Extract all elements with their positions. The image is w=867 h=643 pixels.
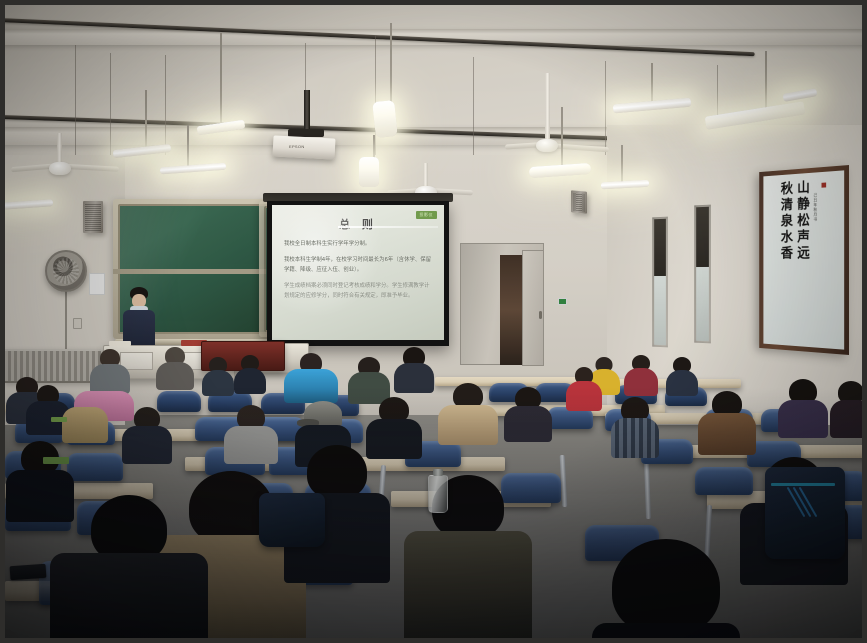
projection-screen-surface: 投影仪 总 则 我校全日制本科生实行学年学分制。 我校本科生学制4年，在校学习时… [272,205,444,340]
student-body [156,362,194,390]
wall-fan [45,250,87,292]
student-near-center-head [591,539,741,638]
student-head [307,445,367,499]
student-body [202,370,234,396]
student-head [612,539,720,635]
student-tan-puffer [438,405,498,445]
slide-paragraph-2: 我校本科生学制4年，在校学习时间最长为6年（含休学、保留学籍、降级、应征入伍、创… [284,256,432,275]
student-back-1 [155,347,195,387]
tube-light-3 [372,100,398,138]
student-body [122,426,172,464]
narrow-window-1 [652,217,668,348]
student-mid-10 [829,381,862,433]
student-red-jacket [624,368,658,396]
student-red-coat [566,381,602,411]
student-back-9 [665,357,699,393]
student-back-6 [393,347,435,391]
chalkboard-divider [113,269,273,274]
tube-light-4 [359,157,379,187]
slide-title: 总 则 [284,216,432,232]
calligraphy-paper: 秋清泉水香 山静松声远 己丑年秋月书 [763,170,844,349]
light-rod-9 [621,145,623,183]
wall-speaker-left [83,201,103,233]
student-body [394,363,434,393]
green-book-on-desk[interactable] [43,457,69,464]
student-olive-coat [404,531,532,638]
student-back-2 [201,357,235,393]
backpack-on-chair[interactable] [765,467,845,559]
door-handle[interactable] [539,311,542,319]
student-plaid-shirt [611,418,659,458]
door-opening [500,255,522,365]
window-pane-dark-1 [654,219,666,276]
photo-frame: EPSON 投影仪 总 则 我校全日制本科生实行学年学分制。 我校本科生学制4年… [0,0,867,643]
light-rod-2 [145,90,147,148]
student-body [830,400,862,438]
student-near-olive [403,475,533,638]
student-blue-vest [284,369,338,403]
student-mid-8-brown [697,391,757,449]
student-mid-9-glasses [777,379,829,433]
smartphone-on-desk[interactable] [10,564,47,580]
narrow-window-2 [694,205,711,344]
wall-fan-stem [65,291,67,353]
desk-leg-4 [644,461,651,519]
projector-pole [304,90,310,132]
wall-outlet [73,318,82,329]
light-rod-5 [765,51,767,113]
student-mid-7-plaid [609,397,661,455]
bag-under-desk[interactable] [259,493,325,547]
speaker-mesh-right [573,192,585,211]
calligraphy-seal-icon [822,182,827,187]
student-grey-coat [89,349,131,391]
light-rod-3 [390,23,392,105]
slide-title-underline [338,226,438,228]
water-bottle-cap [433,469,443,476]
light-rod-8 [187,125,189,167]
wall-speaker-right [571,190,587,213]
student-tan-coat [62,407,108,443]
lecture-hall-photograph: EPSON 投影仪 总 则 我校全日制本科生实行学年学分制。 我校本科生学制4年… [5,5,862,638]
student-mid-1 [121,407,173,459]
student-left-3-tan [61,401,109,445]
light-rod-6 [561,107,563,167]
window-pane-frosted-1 [654,276,666,346]
projector-status-badge: 投影仪 [416,211,438,219]
student-leather-jacket [50,553,208,638]
door-leaf-open[interactable] [522,250,544,366]
light-rod-7 [651,63,653,103]
student-body [504,406,552,442]
exit-sign-icon [558,298,567,305]
wall-notice [89,273,105,295]
student-body [592,623,740,638]
backpack-trim [771,483,835,486]
papers-on-lectern [109,341,131,346]
student-back-5 [347,357,391,401]
projector-brand-label: EPSON [289,144,305,149]
student-body [666,370,698,396]
student-mid-6 [503,387,553,437]
student-brown-jacket [698,413,756,455]
hanger-wire-1 [75,45,76,165]
water-bottle[interactable] [428,475,448,513]
student-near-leather [49,495,209,638]
student-back-3 [233,355,267,391]
seat-r4-2[interactable] [67,453,123,481]
calligraphy-signature: 己丑年秋月书 [812,193,817,222]
calligraphy-scroll: 秋清泉水香 山静松声远 己丑年秋月书 [759,165,849,355]
student-back-8-red [623,355,659,393]
ceiling-fan-rod-right [545,73,550,143]
student-mid-2 [223,405,279,459]
light-rod-1 [220,33,222,126]
window-pane-frosted-2 [696,267,709,341]
green-book-on-desk-2[interactable] [51,417,67,422]
ceiling-fan-hub-left [49,162,71,175]
ceiling-fan-hub-right [536,139,558,152]
calligraphy-line-left: 秋清泉水香 [779,181,792,262]
student-purple-coat [778,400,828,438]
student-mid-5-tan [437,383,499,439]
window-pane-dark-2 [696,207,709,268]
slide-paragraph-1: 我校全日制本科生实行学年学分制。 [284,240,432,249]
projection-screen: 投影仪 总 则 我校全日制本科生实行学年学分制。 我校本科生学制4年，在校学习时… [267,201,449,346]
calligraphy-line-right: 山静松声远 [796,180,809,262]
student-body [234,368,266,394]
slide-paragraph-3: 学生成绩档案必须同时登记考核成绩和学分。学生修满教学计划规定的应修学分，同时符合… [284,282,432,301]
student-back-4-blue-vest [283,353,339,401]
speaker-mesh-left [85,203,101,231]
student-back-10-red [565,367,603,407]
student-body [224,426,278,464]
